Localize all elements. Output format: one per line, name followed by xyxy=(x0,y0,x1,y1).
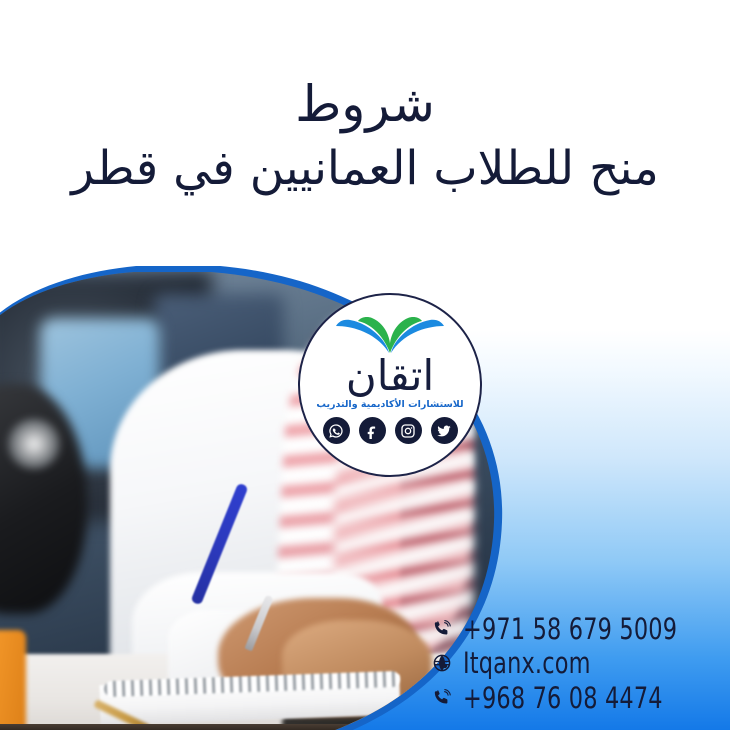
poster-canvas: شروط منح للطلاب العمانيين في قطر xyxy=(0,0,730,730)
logo-subtitle: للاستشارات الأكاديمية والتدريب xyxy=(316,399,463,410)
contact-row-website[interactable]: Itqanx.com xyxy=(431,647,712,679)
logo-wordmark: اتقان xyxy=(346,355,434,397)
photo-orange-cup xyxy=(0,630,26,730)
phone-icon xyxy=(431,687,453,709)
headline-line-2: منح للطلاب العمانيين في قطر xyxy=(0,143,730,195)
globe-icon xyxy=(431,652,453,674)
contact-phone-oman: +968 76 08 4474 xyxy=(463,682,663,714)
photo-highlight xyxy=(6,418,62,470)
contact-website: Itqanx.com xyxy=(463,647,591,679)
contact-row-phone-oman[interactable]: +968 76 08 4474 xyxy=(431,682,712,714)
phone-icon xyxy=(431,618,453,640)
contact-info-block: +971 58 679 5009 Itqanx.com +968 76 08 4… xyxy=(431,613,712,716)
page-title: شروط منح للطلاب العمانيين في قطر xyxy=(0,78,730,194)
headline-line-1: شروط xyxy=(0,78,730,131)
contact-row-phone-uae[interactable]: +971 58 679 5009 xyxy=(431,613,712,645)
contact-phone-uae: +971 58 679 5009 xyxy=(463,613,677,645)
instagram-icon[interactable] xyxy=(395,417,422,444)
facebook-icon[interactable] xyxy=(359,417,386,444)
whatsapp-icon[interactable] xyxy=(323,417,350,444)
brand-logo-badge[interactable]: اتقان للاستشارات الأكاديمية والتدريب xyxy=(298,293,482,477)
social-links-row xyxy=(323,417,458,444)
twitter-icon[interactable] xyxy=(431,417,458,444)
